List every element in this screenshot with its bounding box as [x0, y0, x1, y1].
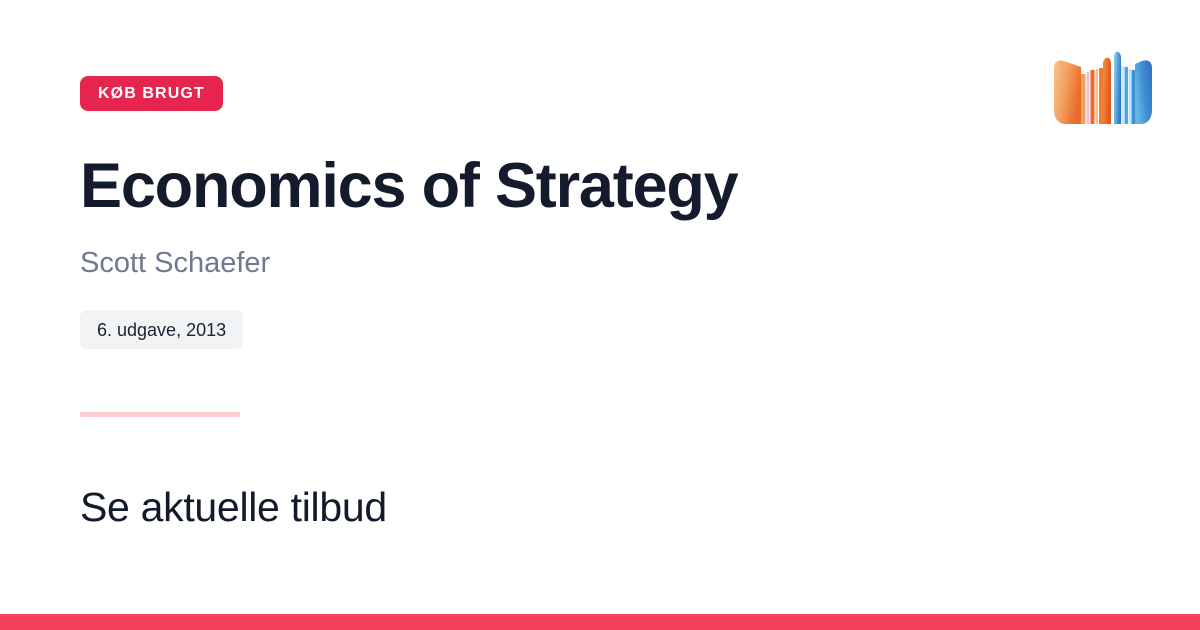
cta-label[interactable]: Se aktuelle tilbud [80, 483, 387, 532]
logo-reflection [1054, 126, 1152, 163]
edition-chip: 6. udgave, 2013 [80, 310, 243, 349]
content-column: KØB BRUGT Economics of Strategy Scott Sc… [80, 0, 1000, 630]
section-divider [80, 412, 240, 417]
page-title: Economics of Strategy [80, 152, 737, 220]
status-badge: KØB BRUGT [80, 76, 223, 111]
bottom-accent-bar [0, 614, 1200, 630]
logo-mark [1054, 52, 1152, 124]
brand-logo [1048, 48, 1158, 163]
og-card: KØB BRUGT Economics of Strategy Scott Sc… [0, 0, 1200, 630]
book-author: Scott Schaefer [80, 246, 270, 281]
